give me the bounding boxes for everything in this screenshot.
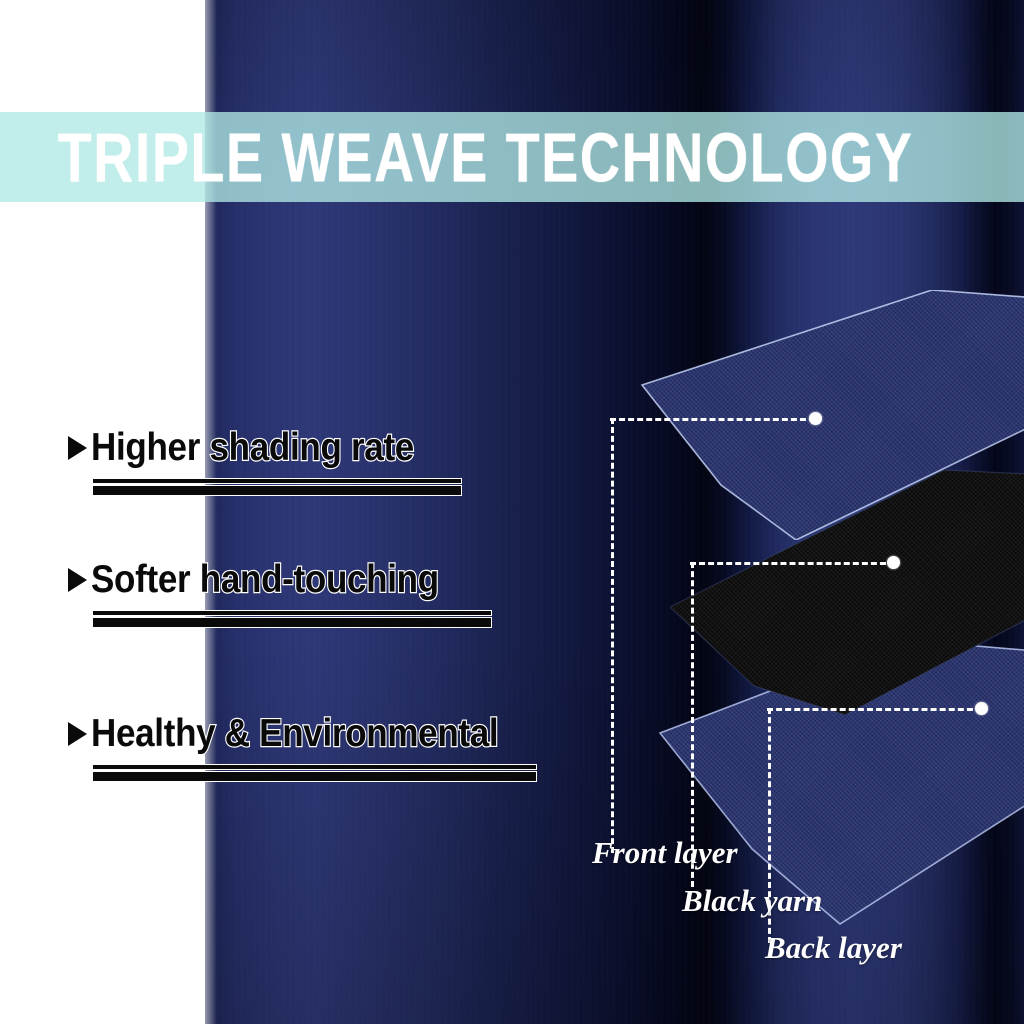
feature-label: Higher shading rate	[91, 426, 414, 470]
layer-label-front: Front layer	[592, 835, 738, 871]
triple-weave-layer-diagram: Front layer Black yarn Back layer	[560, 290, 1024, 890]
feature-underline	[92, 764, 537, 782]
feature-row: Healthy & Environmental	[68, 714, 537, 754]
triangle-right-icon	[68, 436, 87, 460]
feature-label: Softer hand-touching	[91, 558, 439, 602]
feature-item-1: Higher shading rate	[68, 428, 462, 496]
triangle-right-icon	[68, 722, 87, 746]
feature-underline	[92, 478, 462, 496]
feature-item-3: Healthy & Environmental	[68, 714, 537, 782]
layer-label-back: Back layer	[765, 930, 902, 966]
feature-underline	[92, 610, 492, 628]
feature-row: Softer hand-touching	[68, 560, 492, 600]
callout-line-front-horizontal	[610, 418, 815, 421]
underline-thick	[92, 617, 492, 628]
feature-label: Healthy & Environmental	[91, 712, 498, 756]
underline-thin	[92, 764, 537, 770]
underline-thin	[92, 610, 492, 616]
triangle-right-icon	[68, 568, 87, 592]
underline-thick	[92, 485, 462, 496]
infographic-canvas: TRIPLE WEAVE TECHNOLOGY Higher shading r…	[0, 0, 1024, 1024]
feature-item-2: Softer hand-touching	[68, 560, 492, 628]
page-title: TRIPLE WEAVE TECHNOLOGY	[0, 117, 913, 197]
callout-line-back-horizontal	[767, 708, 982, 711]
underline-thin	[92, 478, 462, 484]
callout-line-yarn-horizontal	[690, 562, 895, 565]
layer-label-black-yarn: Black yarn	[682, 883, 822, 919]
callout-line-front-vertical	[611, 418, 614, 853]
underline-thick	[92, 771, 537, 782]
feature-row: Higher shading rate	[68, 428, 462, 468]
banner-strip: TRIPLE WEAVE TECHNOLOGY	[0, 112, 1024, 202]
